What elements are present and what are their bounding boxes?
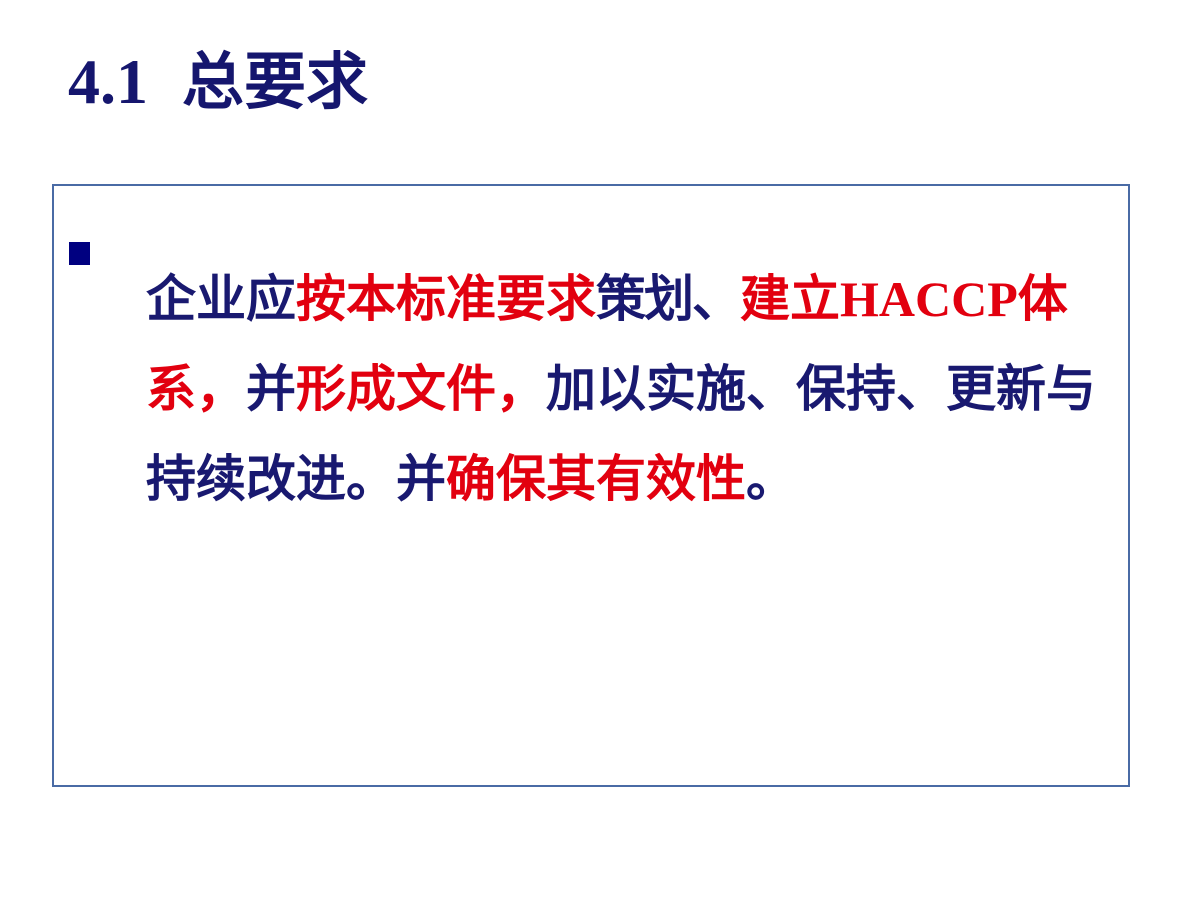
text-run-7: 并 [246,360,296,418]
text-run-10: 确保其有效性 [446,450,746,508]
text-run-3: 策划、 [596,270,740,328]
content-box: 企业应按本标准要求策划、建立HACCP体系，并形成文件，加以实施、保持、更新与持… [52,184,1130,787]
page-title-number: 4.1 [68,46,148,117]
text-run-2: 按本标准要求 [296,270,596,328]
bullet-paragraph: 企业应按本标准要求策划、建立HACCP体系，并形成文件，加以实施、保持、更新与持… [146,254,1118,524]
text-run-1: 企业应 [146,270,296,328]
page-title: 4.1总要求 [68,46,368,118]
text-run-11: 。 [746,450,796,508]
text-run-haccp: HACCP [840,271,1018,327]
text-run-8: 形成文件， [296,360,546,418]
square-bullet-icon [69,242,90,265]
page-title-heading: 总要求 [182,45,368,118]
bullet-list-item: 企业应按本标准要求策划、建立HACCP体系，并形成文件，加以实施、保持、更新与持… [54,186,1128,574]
slide-canvas: 4.1总要求 企业应按本标准要求策划、建立HACCP体系，并形成文件，加以实施、… [0,0,1200,900]
text-run-4: 建立 [740,270,840,328]
